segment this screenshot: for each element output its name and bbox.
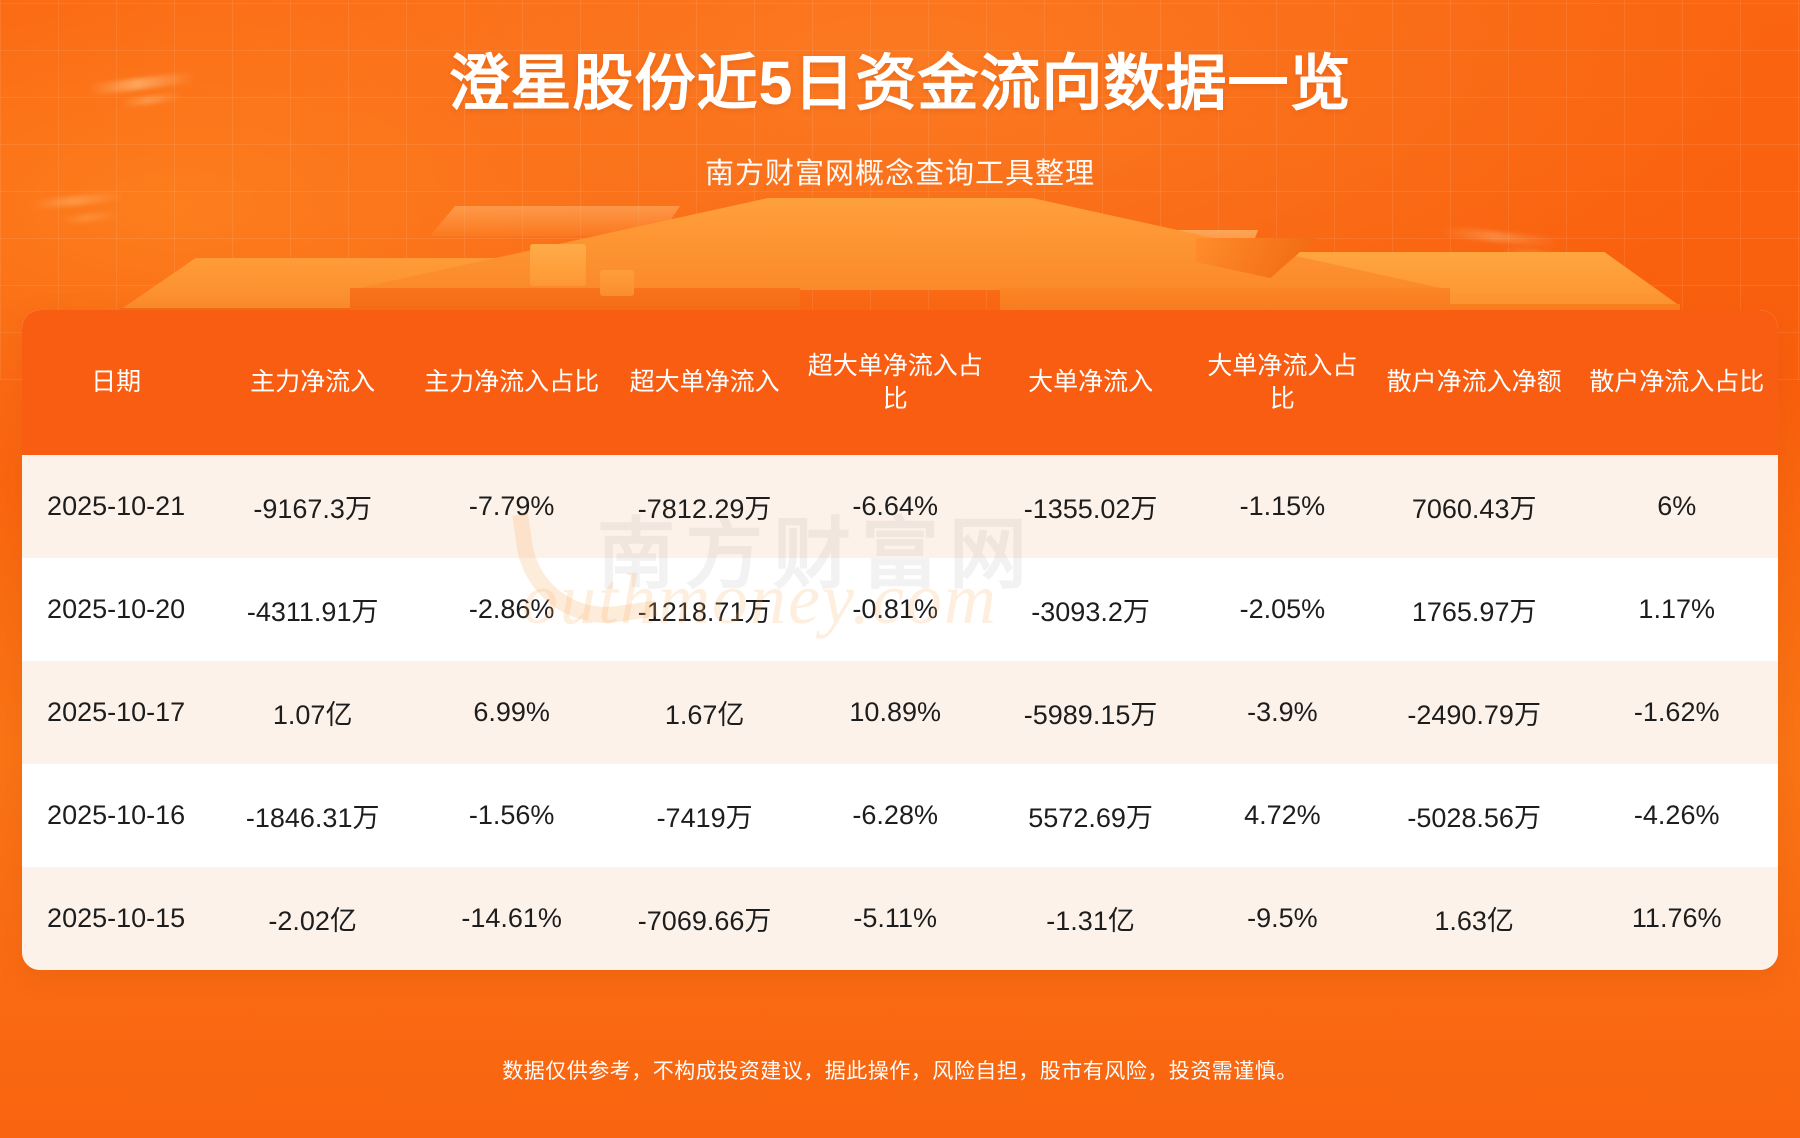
- cell-lg-pct: -3.9%: [1192, 661, 1373, 764]
- podium-block-left-top: [120, 258, 540, 310]
- cell-lg-pct: -9.5%: [1192, 867, 1373, 970]
- cell-retail-pct: 6%: [1575, 455, 1778, 558]
- cell-xl-pct: -6.28%: [801, 764, 989, 867]
- cell-retail-net: 1.63亿: [1373, 867, 1576, 970]
- cell-retail-pct: -1.62%: [1575, 661, 1778, 764]
- column-header-date: 日期: [22, 310, 210, 455]
- cell-main-net: -2.02亿: [210, 867, 415, 970]
- cell-lg-net: -5989.15万: [989, 661, 1192, 764]
- cell-retail-pct: 11.76%: [1575, 867, 1778, 970]
- column-header-retail-pct: 散户净流入占比: [1575, 310, 1778, 455]
- cell-main-net: -4311.91万: [210, 558, 415, 661]
- column-header-main-net: 主力净流入: [210, 310, 415, 455]
- podium-cube: [530, 244, 586, 286]
- cell-lg-net: -3093.2万: [989, 558, 1192, 661]
- cell-lg-net: -1355.02万: [989, 455, 1192, 558]
- column-header-lg-pct: 大单净流入占比: [1192, 310, 1373, 455]
- cell-retail-pct: -4.26%: [1575, 764, 1778, 867]
- cell-date: 2025-10-21: [22, 455, 210, 558]
- page-subtitle: 南方财富网概念查询工具整理: [0, 150, 1800, 192]
- cell-main-pct: -14.61%: [415, 867, 608, 970]
- cell-main-pct: -2.86%: [415, 558, 608, 661]
- cell-xl-net: -7069.66万: [608, 867, 801, 970]
- column-header-retail-net: 散户净流入净额: [1373, 310, 1576, 455]
- cell-xl-pct: -5.11%: [801, 867, 989, 970]
- podium-block-right-top: [1260, 252, 1680, 306]
- table-row: 2025-10-16 -1846.31万 -1.56% -7419万 -6.28…: [22, 764, 1778, 867]
- column-header-xl-pct: 超大单净流入占比: [801, 310, 989, 455]
- cell-xl-net: -7419万: [608, 764, 801, 867]
- cell-xl-pct: -0.81%: [801, 558, 989, 661]
- cell-retail-net: 7060.43万: [1373, 455, 1576, 558]
- cell-xl-pct: -6.64%: [801, 455, 989, 558]
- light-streak-icon: [1440, 226, 1560, 248]
- table-row: 2025-10-15 -2.02亿 -14.61% -7069.66万 -5.1…: [22, 867, 1778, 970]
- podium-wedge: [1196, 238, 1316, 278]
- cell-retail-net: 1765.97万: [1373, 558, 1576, 661]
- cell-main-pct: -1.56%: [415, 764, 608, 867]
- column-header-main-pct: 主力净流入占比: [415, 310, 608, 455]
- cell-main-pct: 6.99%: [415, 661, 608, 764]
- cell-lg-net: -1.31亿: [989, 867, 1192, 970]
- table-row: 2025-10-17 1.07亿 6.99% 1.67亿 10.89% -598…: [22, 661, 1778, 764]
- heading-block: 澄星股份近5日资金流向数据一览 南方财富网概念查询工具整理: [0, 0, 1800, 192]
- cell-retail-net: -2490.79万: [1373, 661, 1576, 764]
- table-body: 2025-10-21 -9167.3万 -7.79% -7812.29万 -6.…: [22, 455, 1778, 970]
- cell-xl-net: -7812.29万: [608, 455, 801, 558]
- cell-date: 2025-10-16: [22, 764, 210, 867]
- cell-main-pct: -7.79%: [415, 455, 608, 558]
- cell-xl-pct: 10.89%: [801, 661, 989, 764]
- light-streak-icon: [30, 191, 126, 210]
- cell-lg-pct: -1.15%: [1192, 455, 1373, 558]
- table-row: 2025-10-21 -9167.3万 -7.79% -7812.29万 -6.…: [22, 455, 1778, 558]
- table-header-row: 日期 主力净流入 主力净流入占比 超大单净流入 超大单净流入占比 大单净流入 大…: [22, 310, 1778, 455]
- cell-lg-net: 5572.69万: [989, 764, 1192, 867]
- disclaimer-note: 数据仅供参考，不构成投资建议，据此操作，风险自担，股市有风险，投资需谨慎。: [0, 1055, 1800, 1085]
- podium-cube-small: [600, 270, 634, 296]
- cell-date: 2025-10-17: [22, 661, 210, 764]
- podium-highlight: [430, 206, 680, 236]
- data-table-card: 南方财富网 outhmoney.com 日期 主力净流入 主力净流入占比 超大单…: [22, 310, 1778, 970]
- cell-main-net: -9167.3万: [210, 455, 415, 558]
- fund-flow-table: 日期 主力净流入 主力净流入占比 超大单净流入 超大单净流入占比 大单净流入 大…: [22, 310, 1778, 970]
- cell-main-net: 1.07亿: [210, 661, 415, 764]
- podium-plate-top: [350, 198, 1450, 290]
- cell-xl-net: 1.67亿: [608, 661, 801, 764]
- cell-xl-net: -1218.71万: [608, 558, 801, 661]
- cell-main-net: -1846.31万: [210, 764, 415, 867]
- cell-date: 2025-10-20: [22, 558, 210, 661]
- light-streak-icon: [1500, 246, 1570, 261]
- light-streak-icon: [60, 211, 120, 224]
- cell-retail-net: -5028.56万: [1373, 764, 1576, 867]
- cell-lg-pct: -2.05%: [1192, 558, 1373, 661]
- table-header: 日期 主力净流入 主力净流入占比 超大单净流入 超大单净流入占比 大单净流入 大…: [22, 310, 1778, 455]
- page-title: 澄星股份近5日资金流向数据一览: [0, 48, 1800, 120]
- table-row: 2025-10-20 -4311.91万 -2.86% -1218.71万 -0…: [22, 558, 1778, 661]
- podium-highlight: [1048, 230, 1258, 264]
- cell-lg-pct: 4.72%: [1192, 764, 1373, 867]
- cell-retail-pct: 1.17%: [1575, 558, 1778, 661]
- column-header-xl-net: 超大单净流入: [608, 310, 801, 455]
- column-header-lg-net: 大单净流入: [989, 310, 1192, 455]
- cell-date: 2025-10-15: [22, 867, 210, 970]
